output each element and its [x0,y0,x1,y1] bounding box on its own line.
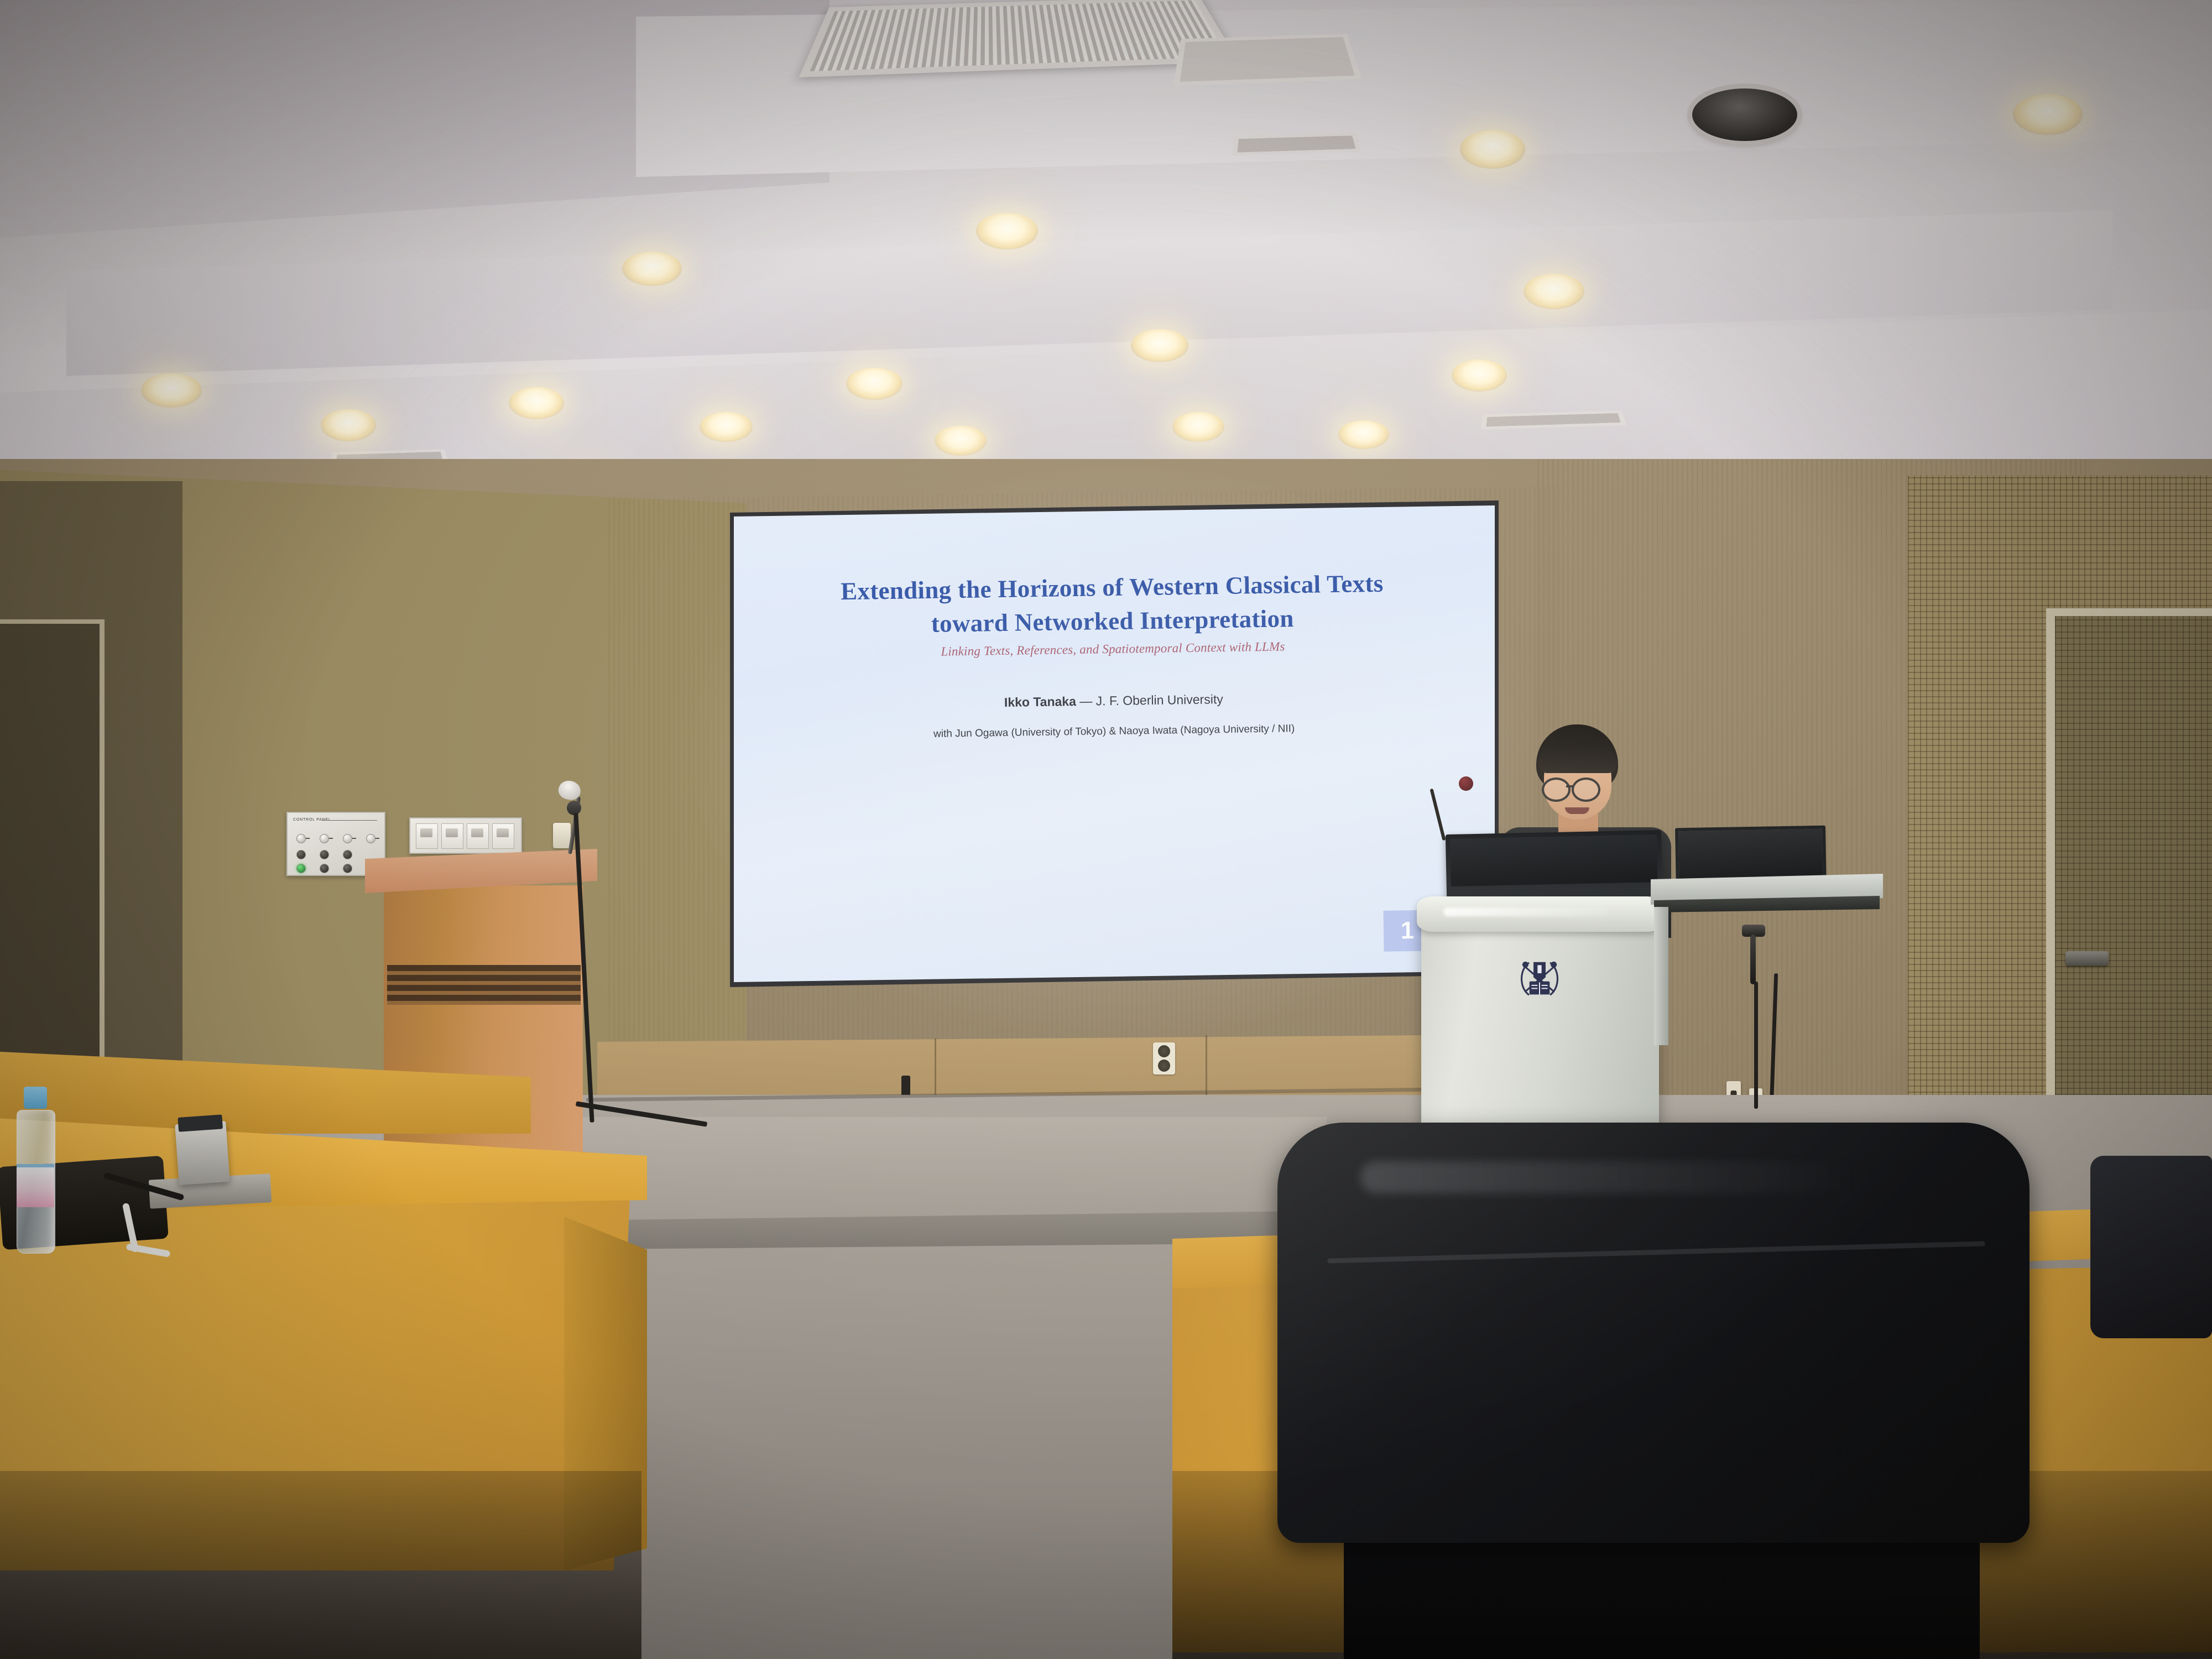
control-knob[interactable] [366,834,375,843]
ceiling-air-vent-secondary-icon [1173,34,1362,86]
light-switch[interactable] [416,823,438,849]
cart-leg [1654,907,1668,1045]
control-knob[interactable] [343,834,352,843]
knob-tick [306,838,310,839]
glasses-bridge [1566,785,1574,787]
control-knob[interactable] [320,834,329,843]
presenter-hair-front [1538,743,1617,773]
ceiling-downlight [141,373,202,408]
lectern-vent-grill [387,965,581,1005]
backpack [2090,1156,2212,1338]
bottle-label [17,1164,54,1207]
ceiling-downlight [1131,329,1188,362]
slide-content: Extending the Horizons of Western Classi… [734,505,1495,982]
podium-microphone-icon [1459,776,1473,791]
knob-tick [352,838,356,839]
wall-fixture [553,823,571,848]
bottle-cap [24,1087,47,1109]
light-switch[interactable] [467,823,489,849]
door-handle-icon[interactable] [2065,951,2109,966]
side-door[interactable] [0,619,105,1121]
ceiling-downlight [1460,130,1525,169]
indicator-lamp[interactable] [296,850,306,859]
indicator-lamp[interactable] [343,864,352,873]
power-outlet-icon[interactable] [1153,1042,1175,1074]
exit-door[interactable] [2046,608,2212,1180]
presenter-mouth [1565,807,1589,814]
slide-author-line: Ikko Tanaka — J. F. Oberlin University [734,688,1494,714]
indicator-lamp[interactable] [343,850,352,859]
control-panel-rule [322,820,377,821]
knob-tick [375,838,379,839]
av-equipment-cart [1651,874,1883,957]
indicator-lamp[interactable] [320,850,329,859]
ceiling-downlight [321,409,376,441]
ceiling-downlight [846,368,902,400]
glasses-icon [1542,778,1571,802]
ceiling-downlight [976,213,1038,249]
ceiling-downlight [1524,274,1584,309]
ceiling-downlight [1452,359,1507,392]
indicator-lamp[interactable] [320,864,329,873]
leather-chair[interactable] [1277,1123,2030,1659]
ceiling-speaker-icon [1692,88,1797,141]
desk-shadow [0,1471,641,1659]
cart-microphone-stem [1750,935,1756,984]
light-switch[interactable] [441,823,463,849]
light-switch[interactable] [492,823,514,849]
ceiling-downlight [1172,412,1224,442]
podium-highlight [1443,907,1609,916]
water-bottle[interactable] [17,1087,54,1253]
ceiling-downlight [622,252,682,286]
ceiling-downlight [700,412,753,442]
ceiling-vent-slot-icon [1232,133,1361,155]
presenter-podium [1421,893,1659,1147]
university-crest-emblem-icon [1514,955,1565,1003]
ceiling-downlight [1338,420,1389,449]
slide-collaborators: with Jun Ogawa (University of Tokyo) & N… [734,720,1495,743]
glasses-icon [1572,778,1600,802]
slide-author-separator: — [1076,693,1096,708]
knob-tick [329,838,333,839]
desk-mounted-device[interactable] [175,1121,229,1185]
projection-screen[interactable]: Extending the Horizons of Western Classi… [734,505,1495,982]
confidence-monitor[interactable] [1446,830,1662,901]
ceiling-downlight [509,387,564,419]
slide-affiliation: J. F. Oberlin University [1095,692,1223,708]
control-knob[interactable] [296,834,306,843]
chair-highlight [1360,1161,1858,1193]
slide-title: Extending the Horizons of Western Classi… [734,565,1493,644]
ceiling-downlight [935,426,987,456]
indicator-lamp-on[interactable] [296,864,306,873]
microphone-cable [1754,982,1758,1109]
podium-body [1421,910,1659,1147]
lecture-room-photo: Extending the Horizons of Western Classi… [0,0,2212,1659]
slide-author-name: Ikko Tanaka [1004,694,1076,709]
ceiling-downlight [2013,94,2083,135]
